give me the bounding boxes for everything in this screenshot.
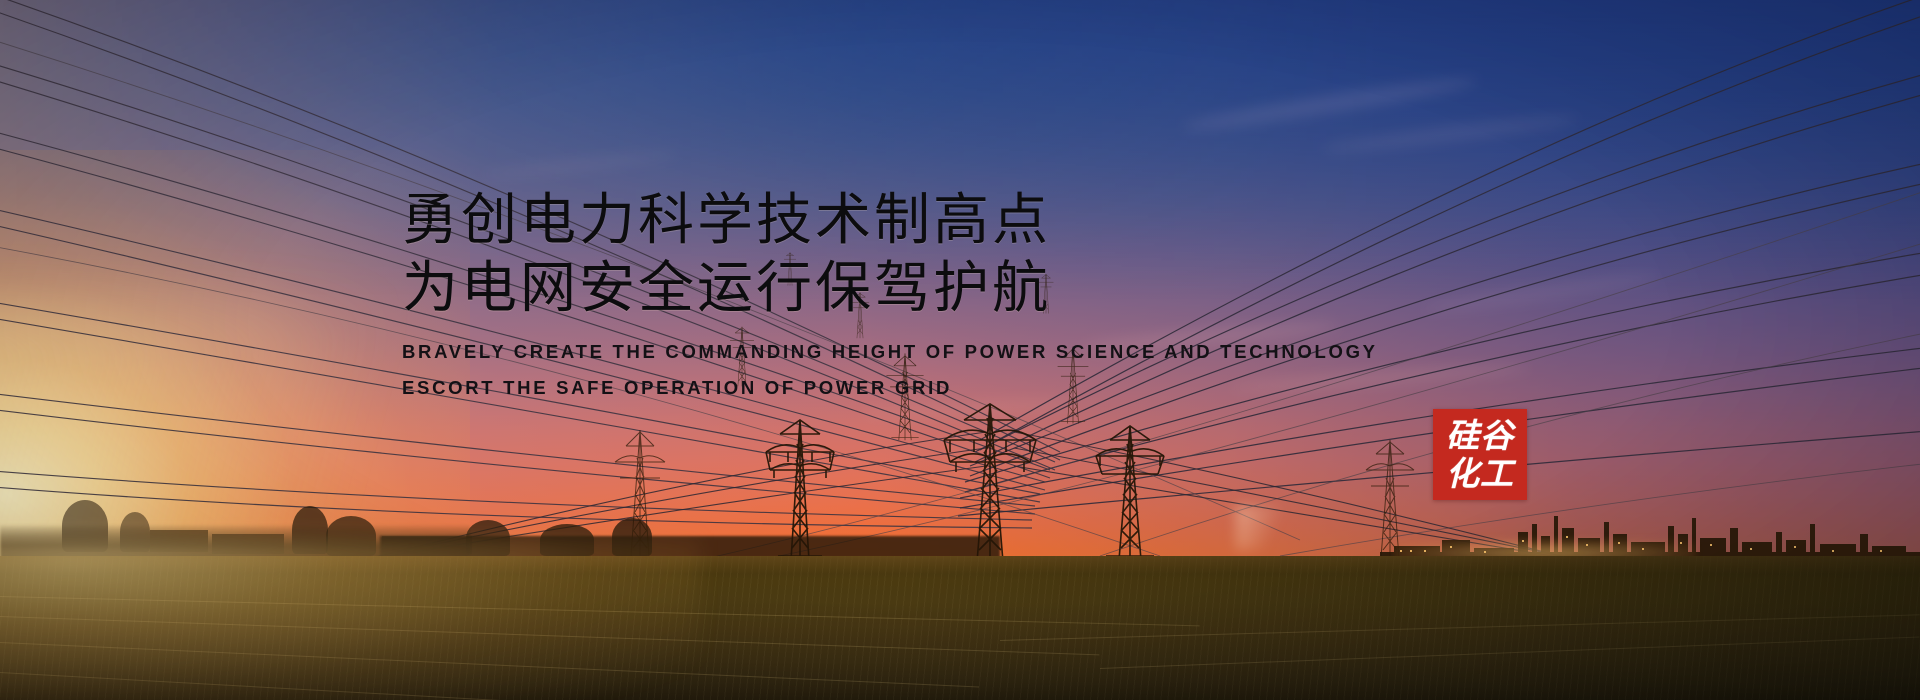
banner-copy: 勇创电力科学技术制高点 为电网安全运行保驾护航 BRAVELY CREATE T… — [402, 186, 1402, 406]
subtitle-line-2: ESCORT THE SAFE OPERATION OF POWER GRID — [402, 370, 1402, 406]
smoke-plume — [1236, 506, 1288, 550]
field-edge-band — [0, 556, 1920, 574]
subtitle-line-1: BRAVELY CREATE THE COMMANDING HEIGHT OF … — [402, 334, 1402, 370]
headline-line-2: 为电网安全运行保驾护航 — [402, 254, 1402, 322]
logo-text-line-1: 硅谷 — [1446, 417, 1514, 455]
logo-text-line-2: 化工 — [1446, 455, 1514, 493]
field-texture — [0, 556, 1920, 700]
company-logo-seal[interactable]: 硅谷 化工 — [1433, 409, 1527, 500]
hero-banner: 勇创电力科学技术制高点 为电网安全运行保驾护航 BRAVELY CREATE T… — [0, 0, 1920, 700]
headline-line-1: 勇创电力科学技术制高点 — [402, 186, 1402, 254]
